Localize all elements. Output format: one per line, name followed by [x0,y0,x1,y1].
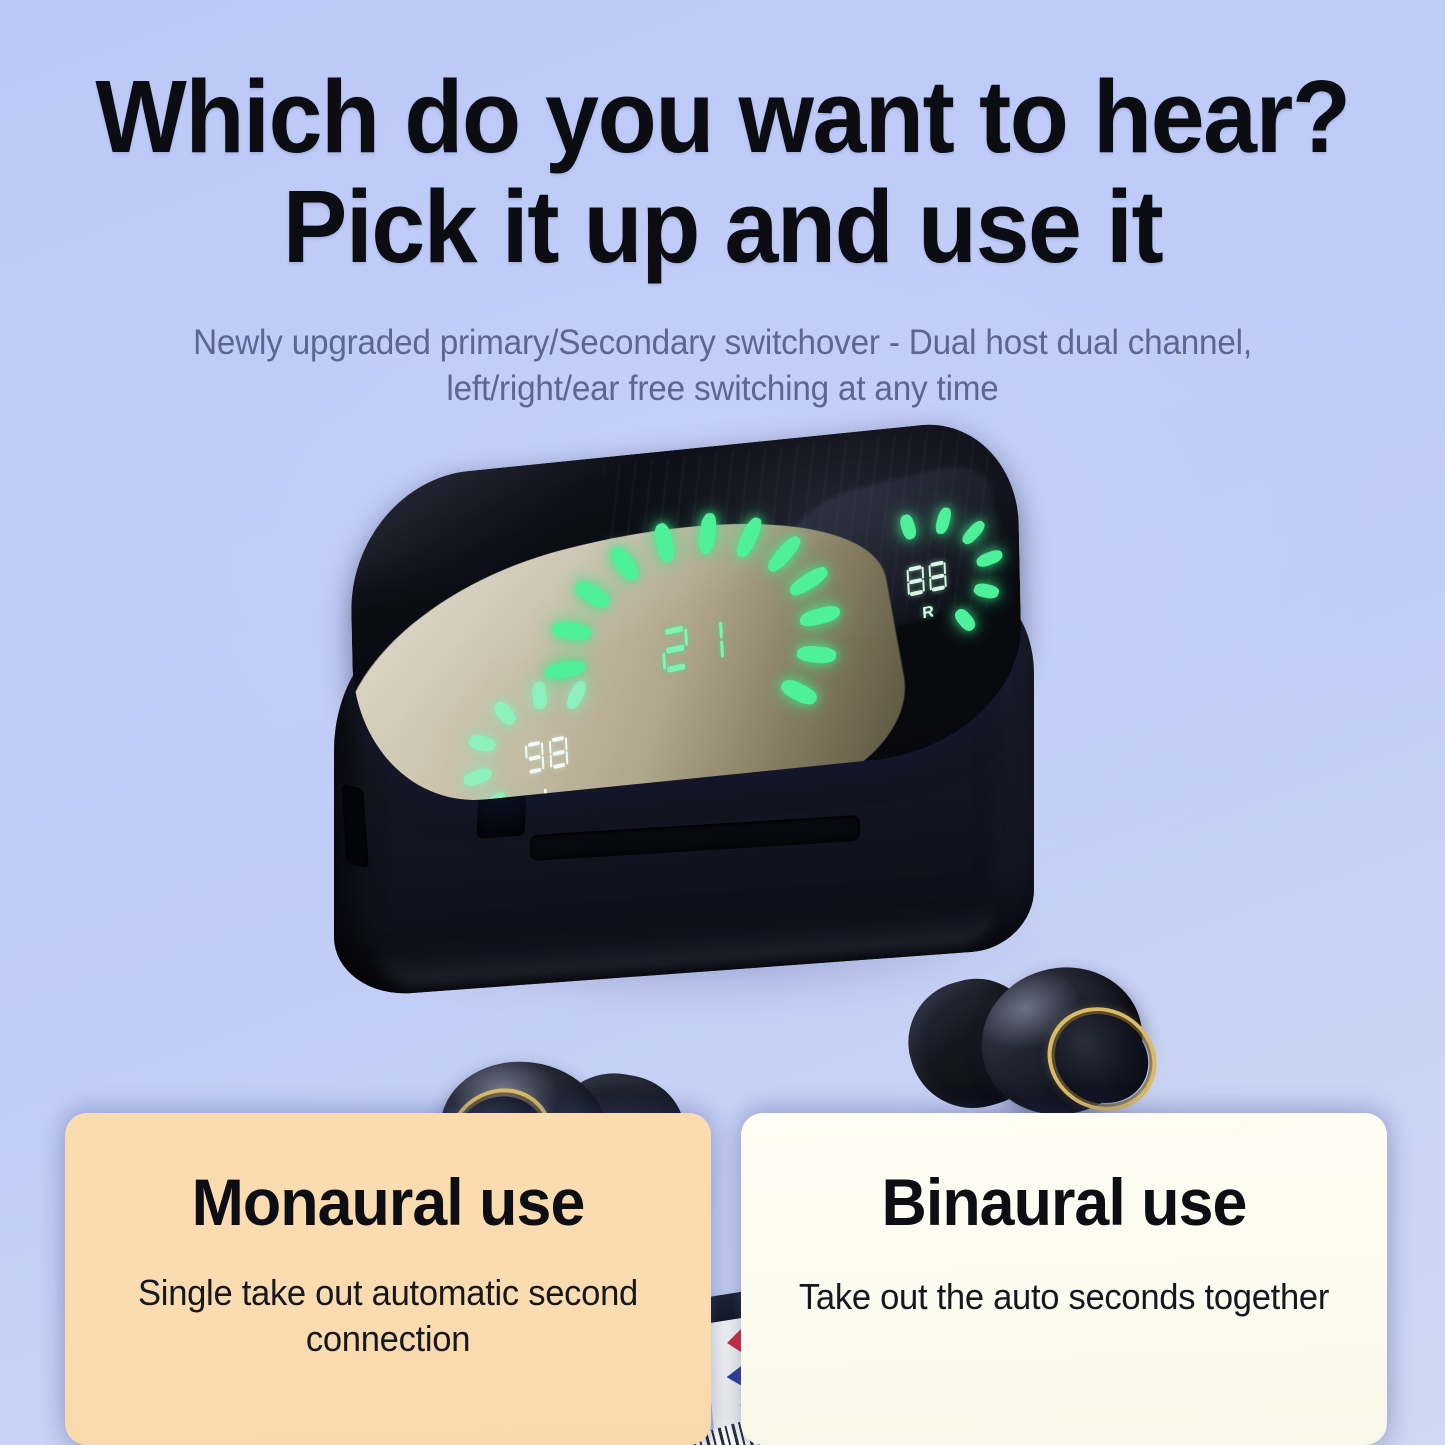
earbud-right [905,958,1170,1130]
product-advertisement-poster: Which do you want to hear? Pick it up an… [0,0,1445,1445]
feature-card-monaural-description: Single take out automatic second connect… [107,1270,670,1362]
charging-case: R L [300,435,1090,1025]
subheadline: Newly upgraded primary/Secondary switcho… [36,320,1409,412]
page-title: Which do you want to hear? Pick it up an… [43,62,1401,282]
headline-line-2: Pick it up and use it [43,172,1401,282]
feature-card-binaural[interactable]: Binaural use Take out the auto seconds t… [741,1113,1387,1445]
feature-card-monaural-title: Monaural use [110,1169,667,1236]
led-battery-ring-right: R [848,496,1005,664]
subheadline-line-2: left/right/ear free switching at any tim… [36,366,1409,412]
subheadline-line-1: Newly upgraded primary/Secondary switcho… [193,323,1252,362]
headline-line-1: Which do you want to hear? [95,59,1349,174]
feature-card-binaural-description: Take out the auto seconds together [783,1274,1346,1320]
feature-card-monaural[interactable]: Monaural use Single take out automatic s… [65,1113,711,1445]
led-label-right: R [922,603,936,623]
feature-card-binaural-title: Binaural use [786,1169,1343,1236]
